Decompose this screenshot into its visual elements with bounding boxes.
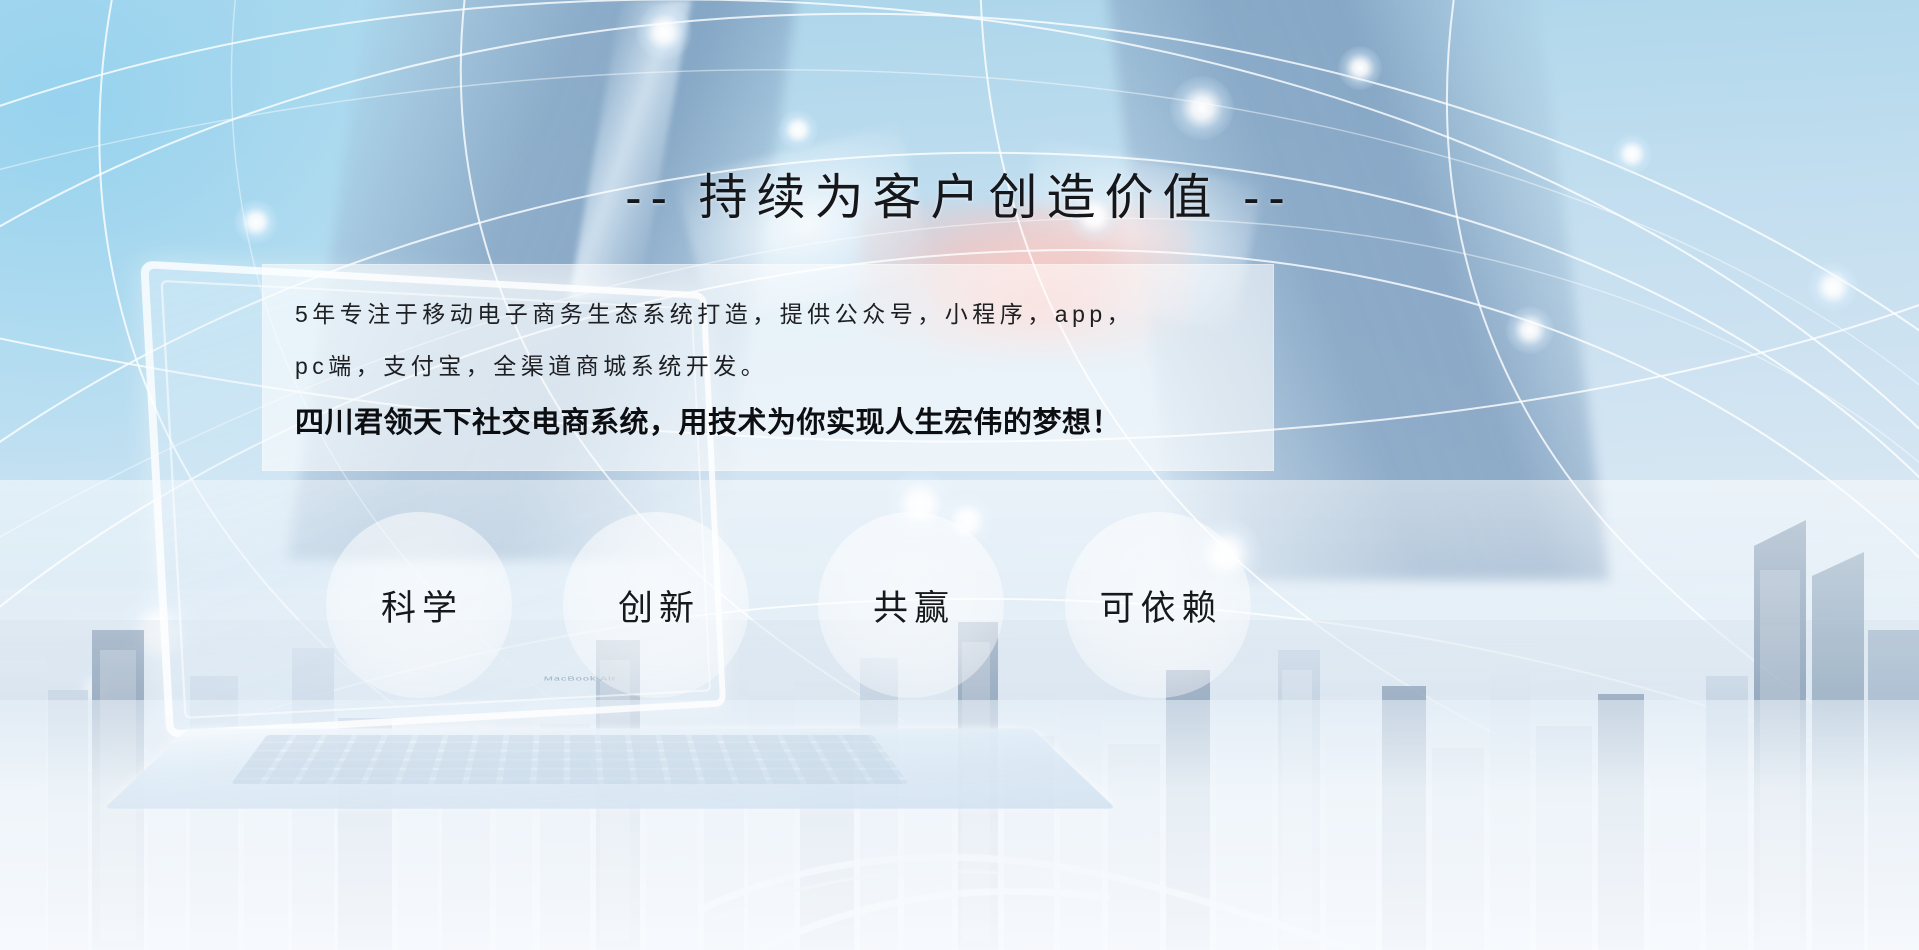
- value-circle-winwin[interactable]: 共赢: [818, 512, 1004, 698]
- page-title: -- 持续为客户创造价值 --: [0, 158, 1919, 229]
- value-circle-label: 共赢: [867, 580, 955, 631]
- value-circle-label: 创新: [612, 580, 700, 631]
- value-circles-group: 科学 创新 共赢 可依赖: [0, 512, 1919, 702]
- value-circle-label: 可依赖: [1093, 580, 1222, 631]
- value-circle-innovation[interactable]: 创新: [563, 512, 749, 698]
- value-circle-science[interactable]: 科学: [326, 512, 512, 698]
- description-text-block: 5年专注于移动电子商务生态系统打造，提供公众号，小程序，app， pc端，支付宝…: [295, 288, 1275, 448]
- value-circle-label: 科学: [375, 580, 463, 631]
- description-line-2: pc端，支付宝，全渠道商城系统开发。: [295, 340, 1275, 392]
- value-circle-reliable[interactable]: 可依赖: [1065, 512, 1251, 698]
- description-line-1: 5年专注于移动电子商务生态系统打造，提供公众号，小程序，app，: [295, 288, 1275, 340]
- description-emphasis-line: 四川君领天下社交电商系统，用技术为你实现人生宏伟的梦想！: [295, 398, 1275, 448]
- promotional-banner: MacBook Air -- 持续为客户创造价值 -- 5年专注于移动电子商务生…: [0, 0, 1919, 950]
- laptop-keyboard: [231, 735, 909, 784]
